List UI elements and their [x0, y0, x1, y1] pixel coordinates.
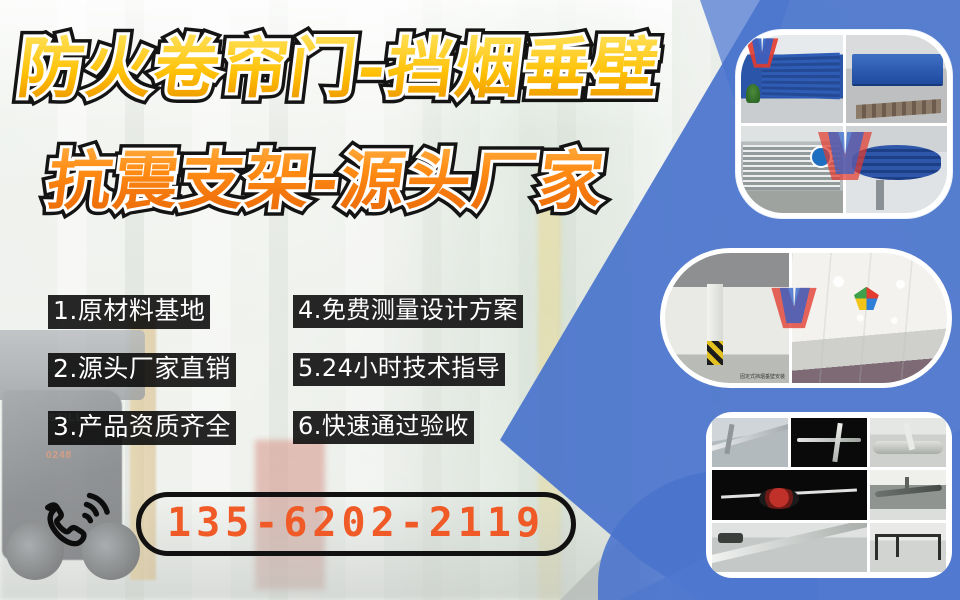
photo-bracket-pipe-ceiling [712, 418, 788, 467]
feature-label-5: 5.24小时技术指导 [293, 353, 505, 386]
photo-bracket-fan-dark [712, 470, 867, 519]
photo-shutter-production-machine [846, 35, 948, 123]
photo-ceiling-with-lights [792, 253, 947, 383]
fire-shutter-photo-grid[interactable] [736, 30, 952, 218]
headline-primary-text: 防火卷帘门-挡烟垂壁 [13, 30, 664, 107]
photo-bracket-frame-room [870, 523, 946, 572]
seismic-bracket-photo-collage[interactable] [706, 412, 952, 578]
poster-canvas: STILL 0248 防火卷帘门-挡烟垂壁 防火卷帘门-挡烟垂壁 防火卷帘门-挡… [0, 0, 960, 600]
headline-primary: 防火卷帘门-挡烟垂壁 防火卷帘门-挡烟垂壁 防火卷帘门-挡烟垂壁 [14, 36, 664, 102]
feature-item-2: 2.源头厂家直销 [48, 353, 236, 387]
photo-grey-rolling-shutter [741, 126, 843, 214]
contact-row: 135-6202-2119 [40, 488, 576, 560]
headline-secondary-text: 抗震支架-源头厂家 [43, 145, 609, 219]
feature-item-5: 5.24小时技术指导 [293, 353, 505, 386]
feature-label-3: 3.产品资质齐全 [48, 411, 236, 445]
photo-bracket-duct-install [712, 523, 867, 572]
feature-item-1: 1.原材料基地 [48, 295, 210, 329]
smoke-barrier-photo-grid[interactable]: 固定式挡烟垂壁安装 [660, 248, 952, 388]
feature-label-2: 2.源头厂家直销 [48, 353, 236, 387]
feature-label-4: 4.免费测量设计方案 [293, 295, 523, 328]
photo-bracket-large-fan [870, 470, 946, 519]
feature-item-6: 6.快速通过验收 [293, 411, 474, 444]
photo-bracket-duct-dark [791, 418, 867, 467]
phone-number-pill[interactable]: 135-6202-2119 [136, 492, 576, 556]
photo-blue-fire-shutter-door [741, 35, 843, 123]
feature-label-6: 6.快速通过验收 [293, 411, 474, 444]
phone-ringing-icon [40, 488, 116, 560]
feature-list: 1.原材料基地 4.免费测量设计方案 2.源头厂家直销 5.24小时技术指导 3… [48, 295, 548, 469]
photo-blue-shutter-roll-drum [846, 126, 948, 214]
photo-parking-garage-interior: 固定式挡烟垂壁安装 [665, 253, 789, 383]
headline-secondary: 抗震支架-源头厂家 抗震支架-源头厂家 抗震支架-源头厂家 [44, 150, 608, 214]
photo-bracket-pipe-clamp [870, 418, 946, 467]
feature-item-4: 4.免费测量设计方案 [293, 295, 523, 328]
feature-item-3: 3.产品资质齐全 [48, 411, 236, 445]
feature-label-1: 1.原材料基地 [48, 295, 210, 329]
photo-caption: 固定式挡烟垂壁安装 [740, 373, 785, 380]
phone-number-text: 135-6202-2119 [167, 500, 545, 546]
